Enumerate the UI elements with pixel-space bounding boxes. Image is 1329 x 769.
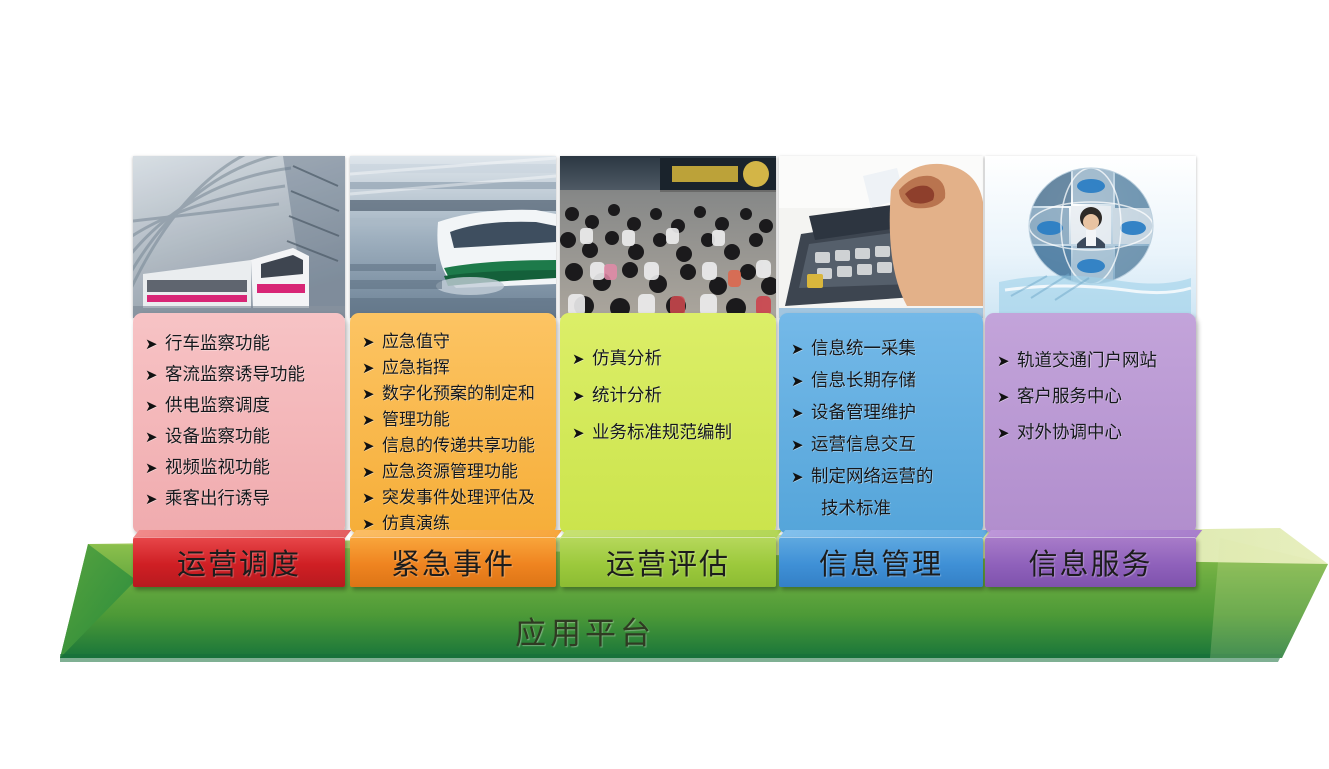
footer-label: 信息管理 [819,541,943,583]
list-item: ➤客流监察诱导功能 [143,360,337,391]
list-item: ➤统计分析 [570,378,768,415]
feature-list-emergency-events: ➤应急值守 ➤应急指挥 ➤数字化预案的制定和 ➤管理功能 ➤信息的传递共享功能 … [360,329,548,537]
feature-list-information-management: ➤信息统一采集 ➤信息长期存储 ➤设备管理维护 ➤运营信息交互 ➤制定网络运营的… [789,329,975,525]
list-item: ➤应急资源管理功能 [360,459,548,485]
footer-label: 运营调度 [177,541,301,583]
list-item: ➤轨道交通门户网站 [995,343,1188,379]
arrow-bullet-icon: ➤ [791,429,804,461]
list-item: ➤业务标准规范编制 [570,415,768,452]
arrow-bullet-icon: ➤ [572,341,585,378]
list-item: ➤乘客出行诱导 [143,484,337,515]
list-item: ➤信息的传递共享功能 [360,433,548,459]
arrow-bullet-icon: ➤ [362,355,375,381]
arrow-bullet-icon: ➤ [791,365,804,397]
list-item: ➤对外协调中心 [995,415,1188,451]
footer-emergency-events[interactable]: 紧急事件 [350,537,556,587]
diagram-canvas: 应用平台 [0,0,1329,769]
arrow-bullet-icon: ➤ [791,333,804,365]
arrow-bullet-icon: ➤ [791,397,804,429]
card-information-management: ➤信息统一采集 ➤信息长期存储 ➤设备管理维护 ➤运营信息交互 ➤制定网络运营的… [779,313,983,533]
footer-front-face: 紧急事件 [350,537,556,587]
metro-train-station-photo [133,156,345,318]
column-group: ➤行车监察功能 ➤客流监察诱导功能 ➤供电监察调度 ➤设备监察功能 ➤视频监视功… [0,0,1329,769]
arrow-bullet-icon: ➤ [362,381,375,407]
card-emergency-events: ➤应急值守 ➤应急指挥 ➤数字化预案的制定和 ➤管理功能 ➤信息的传递共享功能 … [350,313,556,533]
arrow-bullet-icon: ➤ [997,415,1010,451]
arrow-bullet-icon: ➤ [145,422,158,453]
footer-front-face: 运营评估 [560,537,776,587]
card-operation-evaluation: ➤仿真分析 ➤统计分析 ➤业务标准规范编制 [560,313,776,533]
footer-label: 信息服务 [1028,541,1152,583]
footer-label: 紧急事件 [391,541,515,583]
footer-label: 运营评估 [606,541,730,583]
list-item: ➤仿真分析 [570,341,768,378]
list-item: ➤管理功能 [360,407,548,433]
footer-front-face: 信息管理 [779,537,983,587]
card-information-service: ➤轨道交通门户网站 ➤客户服务中心 ➤对外协调中心 [985,313,1196,533]
list-item: ➤突发事件处理评估及 [360,485,548,511]
arrow-bullet-icon: ➤ [145,360,158,391]
feature-list-operation-dispatch: ➤行车监察功能 ➤客流监察诱导功能 ➤供电监察调度 ➤设备监察功能 ➤视频监视功… [143,329,337,515]
list-item: ➤设备管理维护 [789,397,975,429]
arrow-bullet-icon: ➤ [791,461,804,493]
high-speed-train-photo [350,156,556,318]
list-item: ➤供电监察调度 [143,391,337,422]
list-item: ➤行车监察功能 [143,329,337,360]
arrow-bullet-icon: ➤ [572,378,585,415]
feature-list-operation-evaluation: ➤仿真分析 ➤统计分析 ➤业务标准规范编制 [570,329,768,452]
arrow-bullet-icon: ➤ [362,485,375,511]
card-operation-dispatch: ➤行车监察功能 ➤客流监察诱导功能 ➤供电监察调度 ➤设备监察功能 ➤视频监视功… [133,313,345,533]
arrow-bullet-icon: ➤ [362,329,375,355]
list-item: ➤应急指挥 [360,355,548,381]
arrow-bullet-icon: ➤ [997,343,1010,379]
arrow-bullet-icon: ➤ [362,433,375,459]
footer-operation-dispatch[interactable]: 运营调度 [133,537,345,587]
arrow-bullet-icon: ➤ [362,459,375,485]
list-item: ➤数字化预案的制定和 [360,381,548,407]
list-item: ➤应急值守 [360,329,548,355]
crowded-station-hall-photo [560,156,776,318]
arrow-bullet-icon: ➤ [145,329,158,360]
arrow-bullet-icon: ➤ [997,379,1010,415]
arrow-bullet-icon: ➤ [145,453,158,484]
footer-front-face: 信息服务 [985,537,1196,587]
feature-list-information-service: ➤轨道交通门户网站 ➤客户服务中心 ➤对外协调中心 [995,329,1188,451]
arrow-bullet-icon: ➤ [145,484,158,515]
arrow-bullet-icon: ➤ [145,391,158,422]
list-item: ➤运营信息交互 [789,429,975,461]
list-item: ➤客户服务中心 [995,379,1188,415]
list-item-continuation: 技术标准 [789,493,975,525]
footer-operation-evaluation[interactable]: 运营评估 [560,537,776,587]
global-network-sphere-photo [985,156,1196,318]
list-item: ➤信息长期存储 [789,365,975,397]
ticket-machine-hand-photo [779,156,983,318]
arrow-bullet-icon: ➤ [362,407,375,433]
list-item: ➤视频监视功能 [143,453,337,484]
footer-information-service[interactable]: 信息服务 [985,537,1196,587]
footer-front-face: 运营调度 [133,537,345,587]
list-item: ➤信息统一采集 [789,333,975,365]
arrow-bullet-icon: ➤ [572,415,585,452]
list-item: ➤设备监察功能 [143,422,337,453]
list-item: ➤制定网络运营的 [789,461,975,493]
footer-information-management[interactable]: 信息管理 [779,537,983,587]
